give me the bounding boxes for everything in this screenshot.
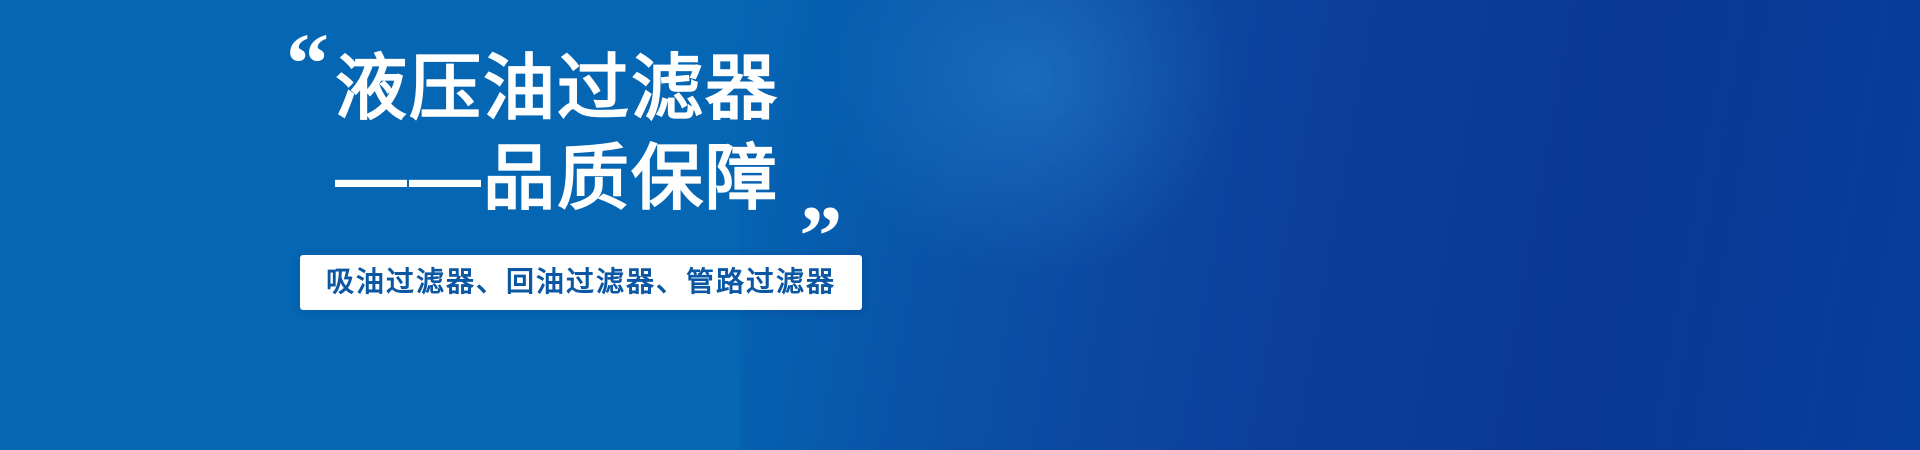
subtitle-text: 吸油过滤器、回油过滤器、管路过滤器 xyxy=(326,267,836,298)
headline-line-2: ——品质保障 xyxy=(335,142,779,218)
product-showcase-panel xyxy=(1150,0,1920,450)
banner-text-block: “ 液压油过滤器 ——品质保障 „ 吸油过滤器、回油过滤器、管路过滤器 xyxy=(0,0,900,450)
subtitle-badge: 吸油过滤器、回油过滤器、管路过滤器 xyxy=(300,255,862,310)
headline-line-1: 液压油过滤器 xyxy=(335,52,779,128)
opening-quote-mark: “ xyxy=(286,20,325,106)
promo-banner: “ 液压油过滤器 ——品质保障 „ 吸油过滤器、回油过滤器、管路过滤器 xyxy=(0,0,1920,450)
closing-quote-mark: „ xyxy=(800,148,839,234)
